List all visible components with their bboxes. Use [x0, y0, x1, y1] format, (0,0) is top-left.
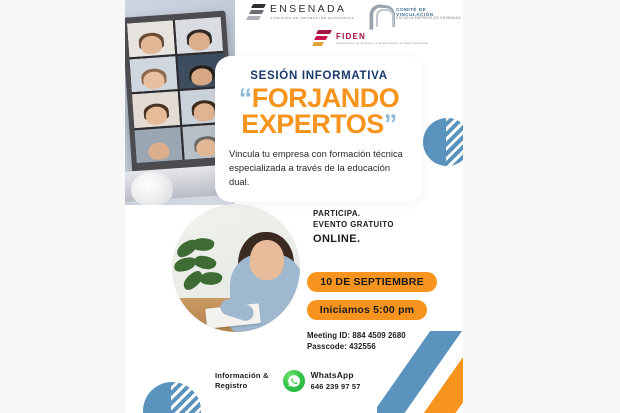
- logo-bar: ENSENADA COMISIÓN DE PROMOCIÓN ECONÓMICA…: [125, 0, 463, 58]
- ensenada-logo-subtitle: COMISIÓN DE PROMOCIÓN ECONÓMICA: [270, 17, 354, 20]
- logo-ensenada: ENSENADA COMISIÓN DE PROMOCIÓN ECONÓMICA: [247, 4, 354, 20]
- participa-line-2: EVENTO GRATUITO: [313, 219, 394, 230]
- whatsapp-icon[interactable]: [283, 370, 305, 392]
- headline-line-2: EXPERTOS: [241, 109, 384, 139]
- logo-fiden: FIDEN Fideicomiso de Fomento a la Educac…: [313, 30, 428, 48]
- ensenada-logo-name: ENSENADA: [270, 4, 354, 15]
- video-tile: [129, 56, 177, 93]
- whatsapp-contact[interactable]: WhatsApp 646 239 97 57: [283, 370, 361, 392]
- desk-lamp: [131, 172, 173, 205]
- participa-block: PARTICIPA. EVENTO GRATUITO ONLINE.: [313, 208, 394, 248]
- comite-arch-logo-icon: [368, 2, 393, 26]
- woman-face: [250, 252, 280, 276]
- striped-circle-right-icon: [423, 118, 463, 166]
- fiden-chevron-logo-icon: [313, 30, 331, 48]
- ensenada-chevron-logo-icon: [247, 4, 265, 20]
- meeting-details: Meeting ID: 884 4509 2680 Passcode: 4325…: [307, 330, 406, 353]
- info-line-1: Información &: [215, 371, 269, 381]
- striped-circle-bottom-left-icon: [143, 382, 201, 413]
- kicker-text: SESIÓN INFORMATIVA: [229, 70, 409, 82]
- video-tile: [134, 126, 182, 163]
- participa-line-1: PARTICIPA.: [313, 208, 394, 219]
- plant-decoration: [174, 238, 230, 296]
- info-registro-label: Información & Registro: [215, 371, 269, 392]
- quote-close: ”: [384, 109, 397, 139]
- logo-comite-vinculacion: COMITÉ DE VINCULACIÓN ESCUELA EMPRESA DE…: [368, 2, 463, 26]
- event-time-badge: Iniciamos 5:00 pm: [307, 300, 427, 320]
- meeting-id: Meeting ID: 884 4509 2680: [307, 330, 406, 341]
- comite-logo-subtitle: ESCUELA EMPRESA DE ENSENADA: [396, 17, 463, 21]
- whatsapp-number: 646 239 97 57: [311, 382, 361, 392]
- meeting-passcode: Passcode: 432556: [307, 341, 406, 352]
- info-line-2: Registro: [215, 381, 269, 391]
- video-tile: [132, 91, 180, 128]
- participa-line-3: ONLINE.: [313, 232, 394, 248]
- event-date-badge: 10 DE SEPTIEMBRE: [307, 272, 437, 292]
- contact-footer: Información & Registro WhatsApp 646 239 …: [215, 370, 361, 392]
- headline-card: SESIÓN INFORMATIVA “FORJANDO EXPERTOS” V…: [215, 56, 423, 202]
- woman-writing-circle-photo: [172, 204, 300, 332]
- page-title: “FORJANDO EXPERTOS”: [229, 86, 409, 137]
- whatsapp-label: WhatsApp: [311, 370, 361, 381]
- fiden-logo-name: FIDEN: [336, 33, 428, 42]
- event-poster: ENSENADA COMISIÓN DE PROMOCIÓN ECONÓMICA…: [125, 0, 463, 413]
- screenshot-canvas: ENSENADA COMISIÓN DE PROMOCIÓN ECONÓMICA…: [0, 0, 620, 413]
- description-text: Vincula tu empresa con formación técnica…: [229, 147, 409, 188]
- fiden-logo-subtitle: Fideicomiso de Fomento a la Educación en…: [336, 42, 428, 45]
